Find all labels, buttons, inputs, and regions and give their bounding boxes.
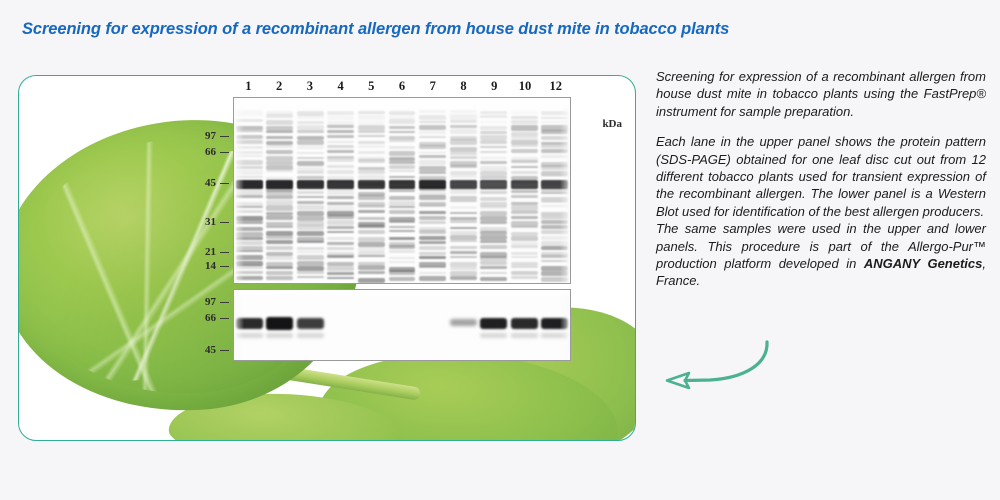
protein-band (480, 151, 507, 153)
protein-band (266, 205, 293, 210)
protein-band (236, 232, 263, 237)
protein-band (327, 206, 354, 211)
protein-band (541, 121, 568, 123)
sds-page-lane-5 (356, 98, 387, 283)
protein-band (419, 205, 446, 207)
protein-band (541, 277, 568, 282)
protein-band (236, 151, 263, 154)
sds-page-lane-3 (295, 98, 326, 283)
protein-band (541, 136, 568, 139)
protein-band (297, 191, 324, 194)
allergen-band-smear (541, 333, 568, 337)
protein-band (266, 150, 293, 154)
figure-card: 1234567891012 kDa 976645312114 976645 © … (18, 75, 636, 441)
protein-band (327, 226, 354, 229)
gel-lane-label-10: 10 (510, 79, 541, 94)
protein-band (450, 276, 477, 280)
protein-band (419, 136, 446, 138)
protein-band (236, 135, 263, 139)
protein-band (358, 265, 385, 270)
protein-band (389, 176, 416, 179)
western-blot-lane-2 (265, 290, 296, 360)
kda-marker-value: 97 (199, 296, 216, 308)
protein-band (389, 165, 416, 169)
protein-band (327, 135, 354, 138)
protein-band (236, 119, 263, 122)
protein-band (511, 171, 538, 175)
protein-band (297, 247, 324, 250)
protein-band (297, 171, 324, 174)
protein-band (236, 237, 263, 241)
protein-band (541, 149, 568, 153)
protein-band (297, 251, 324, 253)
protein-band (389, 221, 416, 223)
protein-band (480, 161, 507, 164)
protein-band (480, 277, 507, 281)
protein-band (389, 146, 416, 149)
rubisco-band-45kda (297, 180, 324, 189)
protein-band (450, 256, 477, 258)
kda-marker-tick (220, 350, 229, 351)
protein-band (389, 237, 416, 241)
protein-band (419, 216, 446, 220)
protein-band (327, 125, 354, 128)
protein-band (419, 241, 446, 244)
protein-band (511, 256, 538, 258)
protein-band (327, 145, 354, 148)
protein-band (389, 226, 416, 229)
poster-page: Screening for expression of a recombinan… (0, 0, 1000, 500)
protein-band (236, 140, 263, 144)
protein-band (419, 236, 446, 240)
protein-band (511, 120, 538, 124)
protein-band (450, 206, 477, 208)
western-blot-lane-6 (387, 290, 418, 360)
protein-band (266, 195, 293, 199)
protein-band (358, 121, 385, 124)
protein-band (297, 225, 324, 230)
protein-band (236, 210, 263, 213)
rubisco-band-45kda (419, 180, 446, 189)
kda-marker-value: 45 (199, 344, 216, 356)
protein-band (266, 246, 293, 250)
protein-band (450, 240, 477, 242)
protein-band (297, 111, 324, 116)
protein-band (236, 195, 263, 198)
western-blot-lane-5 (356, 290, 387, 360)
protein-band (266, 212, 293, 214)
protein-band (327, 231, 354, 234)
protein-band (511, 216, 538, 219)
protein-band (480, 266, 507, 269)
protein-band (480, 115, 507, 118)
protein-band (389, 131, 416, 133)
protein-band (389, 206, 416, 208)
lower-panel-markers: 976645 (169, 76, 229, 376)
rubisco-band-45kda (266, 180, 293, 189)
protein-band (419, 276, 446, 280)
protein-band (541, 255, 568, 258)
protein-band (236, 114, 263, 116)
protein-band (541, 260, 568, 262)
western-blot-panel (233, 289, 571, 361)
protein-band (389, 170, 416, 172)
protein-band (419, 166, 446, 170)
protein-band (480, 197, 507, 201)
protein-band (511, 190, 538, 193)
sds-page-lane-10 (509, 98, 540, 283)
protein-band (511, 276, 538, 279)
protein-band (297, 176, 324, 179)
protein-band (480, 216, 507, 221)
gel-lane-label-9: 9 (479, 79, 510, 94)
protein-band (511, 266, 538, 268)
protein-band (541, 225, 568, 229)
kda-marker-66: 66 (199, 312, 229, 324)
protein-band (511, 166, 538, 168)
protein-band (511, 111, 538, 113)
gel-lane-label-12: 12 (540, 79, 571, 94)
protein-band (327, 111, 354, 115)
protein-band (266, 130, 293, 133)
protein-band (389, 161, 416, 164)
protein-band (389, 277, 416, 281)
protein-band (358, 151, 385, 154)
protein-band (297, 216, 324, 221)
protein-band (358, 210, 385, 213)
rubisco-band-45kda (511, 180, 538, 189)
rubisco-band-45kda (389, 180, 416, 189)
protein-band (541, 165, 568, 170)
protein-band (541, 117, 568, 120)
protein-band (389, 230, 416, 232)
sds-page-lane-2 (265, 98, 296, 283)
protein-band (297, 161, 324, 166)
gel-lane-label-2: 2 (264, 79, 295, 94)
kda-marker-97: 97 (199, 296, 229, 308)
protein-band (511, 149, 538, 153)
protein-band (389, 119, 416, 123)
protein-band (327, 130, 354, 133)
protein-band (297, 271, 324, 274)
protein-band (297, 146, 324, 149)
protein-band (419, 230, 446, 234)
protein-band (450, 251, 477, 254)
kda-marker-tick (220, 302, 229, 303)
protein-band (358, 170, 385, 174)
protein-band (480, 146, 507, 148)
protein-band (450, 156, 477, 159)
rubisco-band-45kda (541, 180, 568, 189)
protein-band (541, 175, 568, 177)
protein-band (419, 145, 446, 149)
protein-band (266, 145, 293, 148)
protein-band (266, 276, 293, 280)
sds-page-panel (233, 97, 571, 284)
caption-paragraph-3: The same samples were used in the upper … (656, 220, 986, 290)
protein-band (358, 135, 385, 137)
protein-band (297, 157, 324, 159)
rubisco-band-45kda (327, 180, 354, 189)
protein-band (480, 191, 507, 194)
company-name: ANGANY Genetics (864, 256, 983, 271)
caption-paragraph-2: Each lane in the upper panel shows the p… (656, 133, 986, 220)
protein-band (297, 255, 324, 260)
protein-band (480, 221, 507, 223)
protein-band (389, 126, 416, 130)
protein-band (266, 271, 293, 274)
protein-band (419, 115, 446, 120)
allergen-band-smear (480, 333, 507, 337)
caption-paragraph-1: Screening for expression of a recombinan… (656, 68, 986, 120)
protein-band (297, 130, 324, 133)
protein-band (358, 217, 385, 220)
protein-band (358, 125, 385, 129)
protein-band (480, 131, 507, 134)
protein-band (541, 192, 568, 195)
protein-band (480, 157, 507, 159)
allergen-band-smear (236, 333, 263, 337)
gel-lane-label-4: 4 (325, 79, 356, 94)
protein-band (327, 266, 354, 270)
protein-band (480, 171, 507, 175)
protein-band (450, 125, 477, 129)
protein-band (358, 278, 385, 283)
protein-band (358, 115, 385, 120)
western-blot-lane-9 (478, 290, 509, 360)
protein-band (480, 176, 507, 179)
gel-lane-label-7: 7 (417, 79, 448, 94)
protein-band (327, 242, 354, 245)
protein-band (389, 270, 416, 275)
protein-band (327, 150, 354, 153)
protein-band (389, 111, 416, 115)
protein-band (236, 146, 263, 149)
protein-band (511, 210, 538, 214)
protein-band (358, 195, 385, 200)
protein-band (327, 170, 354, 174)
protein-band (327, 237, 354, 240)
gel-lane-label-8: 8 (448, 79, 479, 94)
protein-band (358, 225, 385, 228)
protein-band (327, 165, 354, 168)
protein-band (480, 126, 507, 131)
protein-band (419, 125, 446, 130)
protein-band (266, 262, 293, 266)
protein-band (266, 266, 293, 269)
protein-band (389, 261, 416, 264)
protein-band (450, 129, 477, 134)
protein-band (511, 226, 538, 228)
protein-band (297, 136, 324, 140)
protein-band (358, 130, 385, 133)
protein-band (450, 165, 477, 169)
protein-band (511, 195, 538, 197)
rubisco-band-45kda (450, 180, 477, 189)
allergen-band (236, 318, 263, 329)
protein-band (389, 151, 416, 156)
allergen-band (266, 317, 293, 330)
protein-band (511, 245, 538, 248)
gel-lane-label-6: 6 (387, 79, 418, 94)
kda-marker-tick (220, 318, 229, 319)
protein-band (389, 250, 416, 253)
protein-band (450, 175, 477, 178)
protein-band (297, 231, 324, 236)
protein-band (358, 175, 385, 179)
protein-band (236, 176, 263, 178)
protein-band (389, 210, 416, 214)
sds-page-lane-1 (234, 98, 265, 283)
protein-band (266, 120, 293, 124)
protein-band (419, 221, 446, 224)
western-blot-lane-12 (539, 290, 570, 360)
protein-band (358, 111, 385, 114)
protein-band (511, 252, 538, 255)
protein-band (327, 247, 354, 250)
protein-band (236, 246, 263, 250)
protein-band (419, 152, 446, 154)
protein-band (511, 145, 538, 147)
protein-band (389, 196, 416, 201)
protein-band (450, 120, 477, 123)
protein-band (266, 136, 293, 139)
protein-band (541, 145, 568, 148)
protein-band (358, 271, 385, 273)
protein-band (297, 261, 324, 266)
protein-band (419, 155, 446, 158)
marker-unit-label: kDa (602, 118, 622, 130)
sds-page-lane-9 (478, 98, 509, 283)
protein-band (236, 241, 263, 245)
protein-band (419, 195, 446, 199)
protein-band (389, 245, 416, 249)
protein-band (327, 196, 354, 199)
protein-band (450, 152, 477, 155)
protein-band (389, 257, 416, 259)
protein-band (236, 227, 263, 231)
protein-band (297, 201, 324, 204)
protein-band (480, 121, 507, 123)
protein-band (480, 111, 507, 114)
protein-band (541, 246, 568, 251)
protein-band (236, 255, 263, 260)
protein-band (419, 252, 446, 255)
allergen-band (297, 318, 324, 329)
protein-band (480, 245, 507, 248)
kda-marker-value: 66 (199, 312, 216, 324)
protein-band (327, 272, 354, 275)
protein-band (266, 170, 293, 172)
protein-band (419, 121, 446, 123)
protein-band (419, 131, 446, 134)
protein-band (419, 246, 446, 251)
protein-band (541, 230, 568, 234)
protein-band (480, 272, 507, 274)
protein-band (450, 114, 477, 119)
protein-band (450, 139, 477, 144)
protein-band (297, 205, 324, 210)
western-blot-lane-1 (234, 290, 265, 360)
protein-band (236, 250, 263, 252)
protein-band (450, 212, 477, 214)
protein-band (297, 196, 324, 198)
protein-band (236, 190, 263, 195)
western-blot-lane-4 (326, 290, 357, 360)
protein-band (419, 266, 446, 269)
protein-band (450, 227, 477, 229)
protein-band (297, 121, 324, 124)
caption-column: Screening for expression of a recombinan… (656, 68, 986, 290)
protein-band (450, 110, 477, 114)
protein-band (236, 155, 263, 157)
protein-band (327, 190, 354, 194)
rubisco-band-45kda (358, 180, 385, 189)
protein-band (266, 231, 293, 236)
protein-band (297, 241, 324, 243)
protein-band (541, 111, 568, 116)
protein-band (236, 265, 263, 268)
protein-band (327, 255, 354, 258)
protein-band (266, 161, 293, 165)
protein-band (450, 220, 477, 222)
protein-band (358, 230, 385, 234)
protein-band (358, 159, 385, 163)
rubisco-band-45kda (480, 180, 507, 189)
protein-band (450, 200, 477, 202)
protein-band (389, 140, 416, 142)
protein-band (297, 140, 324, 145)
gel-lane-label-5: 5 (356, 79, 387, 94)
protein-band (480, 261, 507, 266)
protein-band (541, 155, 568, 158)
protein-band (480, 240, 507, 243)
curved-arrow-icon (655, 330, 805, 410)
sds-page-lane-7 (417, 98, 448, 283)
protein-band (541, 130, 568, 134)
protein-band (327, 141, 354, 143)
allergen-band (541, 318, 568, 330)
sds-page-lane-12 (539, 98, 570, 283)
protein-band (266, 114, 293, 118)
protein-band (266, 225, 293, 228)
protein-band (450, 190, 477, 194)
protein-band (297, 276, 324, 278)
western-blot-lane-8 (448, 290, 479, 360)
protein-band (511, 236, 538, 241)
allergen-band-smear (297, 333, 324, 337)
protein-band (480, 166, 507, 170)
protein-band (358, 255, 385, 257)
sds-page-lane-4 (326, 98, 357, 283)
protein-band (541, 271, 568, 275)
page-title: Screening for expression of a recombinan… (22, 20, 882, 39)
protein-band (511, 271, 538, 274)
protein-band (450, 235, 477, 240)
protein-band (541, 205, 568, 207)
allergen-band (480, 318, 507, 330)
protein-band (358, 205, 385, 208)
protein-band (358, 145, 385, 148)
protein-band (419, 110, 446, 112)
western-blot-lane-10 (509, 290, 540, 360)
protein-band (419, 256, 446, 259)
protein-band (419, 272, 446, 274)
gel-lane-label-3: 3 (294, 79, 325, 94)
protein-band (389, 190, 416, 193)
allergen-band (511, 318, 538, 329)
western-blot-lane-7 (417, 290, 448, 360)
